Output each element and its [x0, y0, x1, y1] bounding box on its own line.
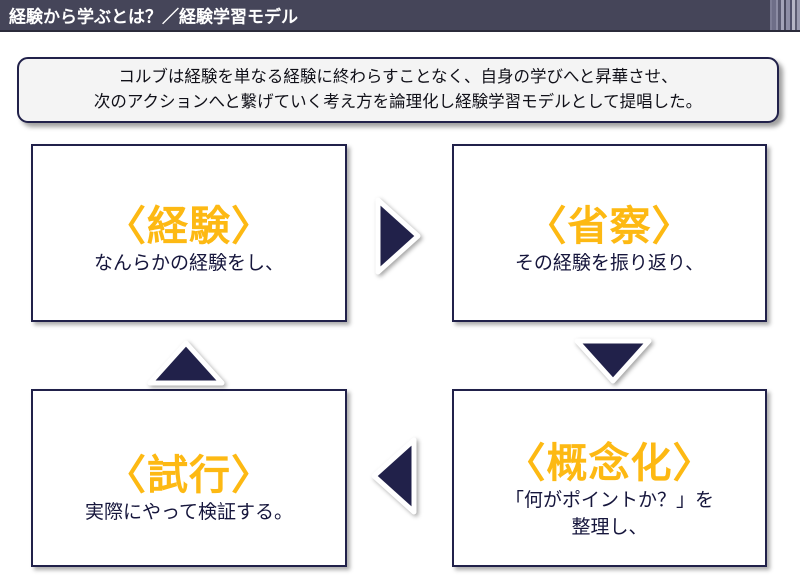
- stage-box-experience-content: 〈経験〉 なんらかの経験をし、: [94, 202, 284, 277]
- stage-box-conceptualization[interactable]: 〈概念化〉 「何がポイントか？」を 整理し、: [452, 389, 767, 567]
- arrow-up-icon: [146, 339, 226, 392]
- stage-box-reflection[interactable]: 〈省察〉 その経験を振り返り、: [452, 144, 767, 322]
- title-bar-underline: [0, 30, 800, 32]
- stage-body-trial: 実際にやって検証する。: [85, 499, 293, 526]
- stage-heading-reflection: 〈省察〉: [526, 202, 694, 250]
- title-decoration-stripes: [758, 0, 800, 30]
- stage-body-experience: なんらかの経験をし、: [94, 250, 284, 277]
- stage-box-experience[interactable]: 〈経験〉 なんらかの経験をし、: [31, 144, 347, 322]
- stage-heading-experience: 〈経験〉: [105, 202, 273, 250]
- description-callout: コルブは経験を単なる経験に終わらすことなく、自身の学びへと昇華させ、 次のアクシ…: [17, 57, 779, 123]
- page-title: 経験から学ぶとは？／経験学習モデル: [9, 3, 298, 28]
- stage-body-conceptualization-line-1: 「何がポイントか？」を: [505, 487, 714, 514]
- stage-box-trial-content: 〈試行〉 実際にやって検証する。: [85, 451, 293, 526]
- callout-line-2: 次のアクションへと繋げていく考え方を論理化し経験学習モデルとして提唱した。: [94, 90, 702, 115]
- stage-heading-trial: 〈試行〉: [105, 451, 273, 499]
- callout-line-1: コルブは経験を単なる経験に終わらすことなく、自身の学びへと昇華させ、: [118, 65, 677, 90]
- arrow-right-icon: [374, 196, 422, 281]
- stage-body-reflection: その経験を振り返り、: [515, 250, 704, 277]
- stage-box-reflection-content: 〈省察〉 その経験を振り返り、: [515, 202, 704, 277]
- arrow-left-icon: [370, 436, 418, 521]
- stage-box-trial[interactable]: 〈試行〉 実際にやって検証する。: [31, 389, 347, 567]
- arrow-down-icon: [573, 337, 653, 390]
- stage-heading-conceptualization: 〈概念化〉: [505, 439, 715, 487]
- slide-title-bar: 経験から学ぶとは？／経験学習モデル: [0, 0, 800, 30]
- stage-body-conceptualization-line-2: 整理し、: [571, 514, 647, 541]
- stage-box-conceptualization-content: 〈概念化〉 「何がポイントか？」を 整理し、: [505, 439, 715, 541]
